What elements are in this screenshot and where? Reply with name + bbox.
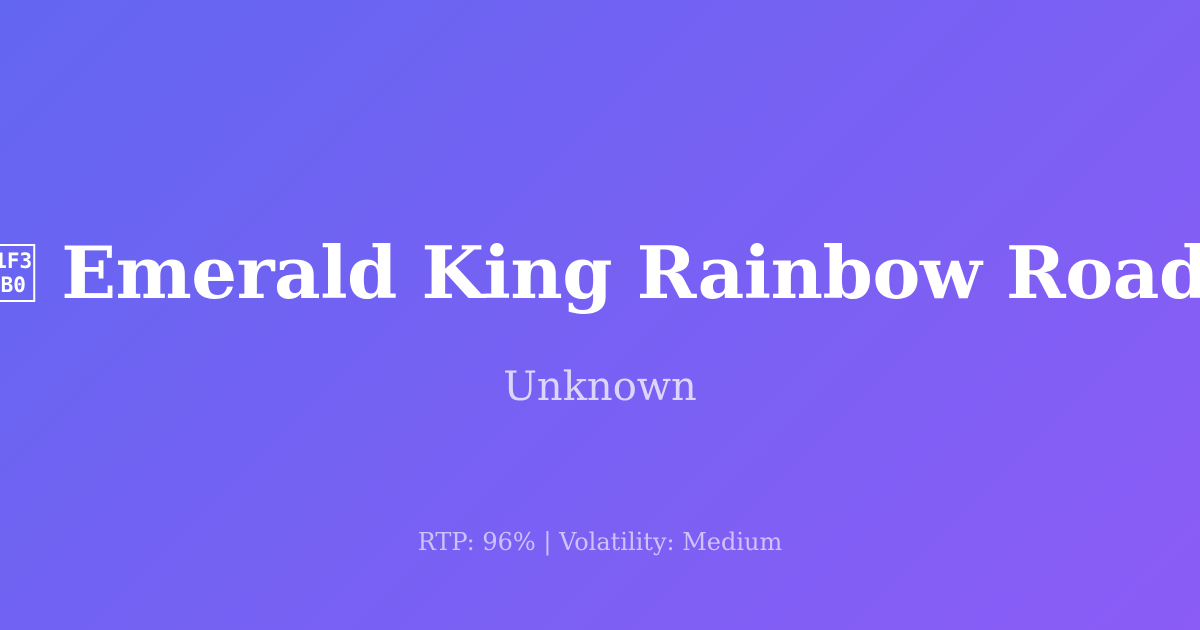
page-subtitle: Unknown (0, 367, 1200, 407)
game-stats-line: RTP: 96% | Volatility: Medium (0, 530, 1200, 554)
title-row: 1F3 B0 Emerald King Rainbow Road (0, 237, 1200, 309)
slot-machine-icon: 1F3 B0 (0, 244, 35, 302)
page-title: Emerald King Rainbow Road (61, 237, 1200, 309)
og-preview-card: 1F3 B0 Emerald King Rainbow Road Unknown… (0, 0, 1200, 630)
tofu-codepoint-top: 1F3 (0, 249, 32, 273)
tofu-codepoint-bottom: B0 (1, 273, 26, 297)
